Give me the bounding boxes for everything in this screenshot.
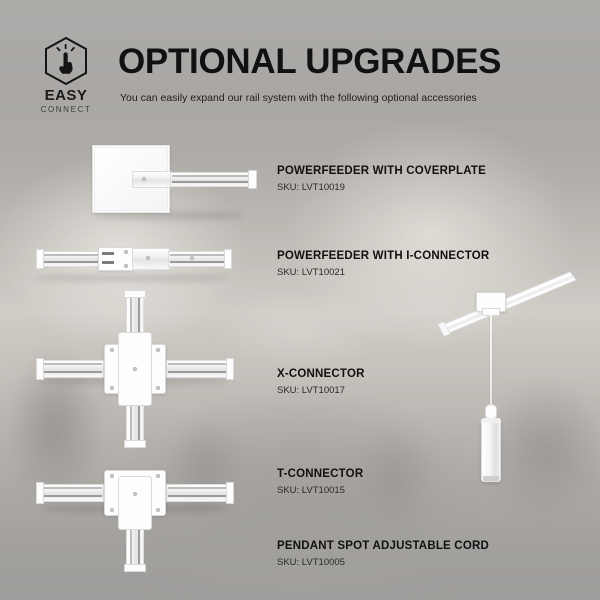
brand-logo: EASY CONNECT (30, 36, 102, 114)
product-label-3: X-CONNECTOR SKU: LVT10017 (277, 368, 365, 396)
logo-text-easy: EASY (30, 87, 102, 104)
logo-text-connect: CONNECT (30, 105, 102, 114)
powerfeeder-coverplate-image (88, 143, 268, 221)
product-name: POWERFEEDER WITH I-CONNECTOR (277, 250, 489, 262)
product-sku: SKU: LVT10019 (277, 182, 486, 193)
header: EASY CONNECT OPTIONAL UPGRADES You can e… (0, 0, 600, 130)
pendant-spot-adjustable-cord-image (420, 268, 590, 498)
t-connector-image (20, 462, 250, 582)
page-title: OPTIONAL UPGRADES (118, 42, 501, 82)
product-label-1: POWERFEEDER WITH COVERPLATE SKU: LVT1001… (277, 165, 486, 193)
product-name: X-CONNECTOR (277, 368, 365, 380)
product-name: PENDANT SPOT ADJUSTABLE CORD (277, 540, 489, 552)
page-subtitle: You can easily expand our rail system wi… (120, 92, 477, 104)
x-connector-image (20, 288, 250, 456)
product-sku: SKU: LVT10005 (277, 557, 489, 568)
product-name: POWERFEEDER WITH COVERPLATE (277, 165, 486, 177)
product-sku: SKU: LVT10017 (277, 385, 365, 396)
hand-press-hexagon-icon (43, 36, 89, 86)
product-name: T-CONNECTOR (277, 468, 363, 480)
poster: EASY CONNECT OPTIONAL UPGRADES You can e… (0, 0, 600, 600)
product-sku: SKU: LVT10015 (277, 485, 363, 496)
product-label-5: PENDANT SPOT ADJUSTABLE CORD SKU: LVT100… (277, 540, 489, 568)
powerfeeder-i-connector-image (20, 240, 250, 286)
product-label-4: T-CONNECTOR SKU: LVT10015 (277, 468, 363, 496)
